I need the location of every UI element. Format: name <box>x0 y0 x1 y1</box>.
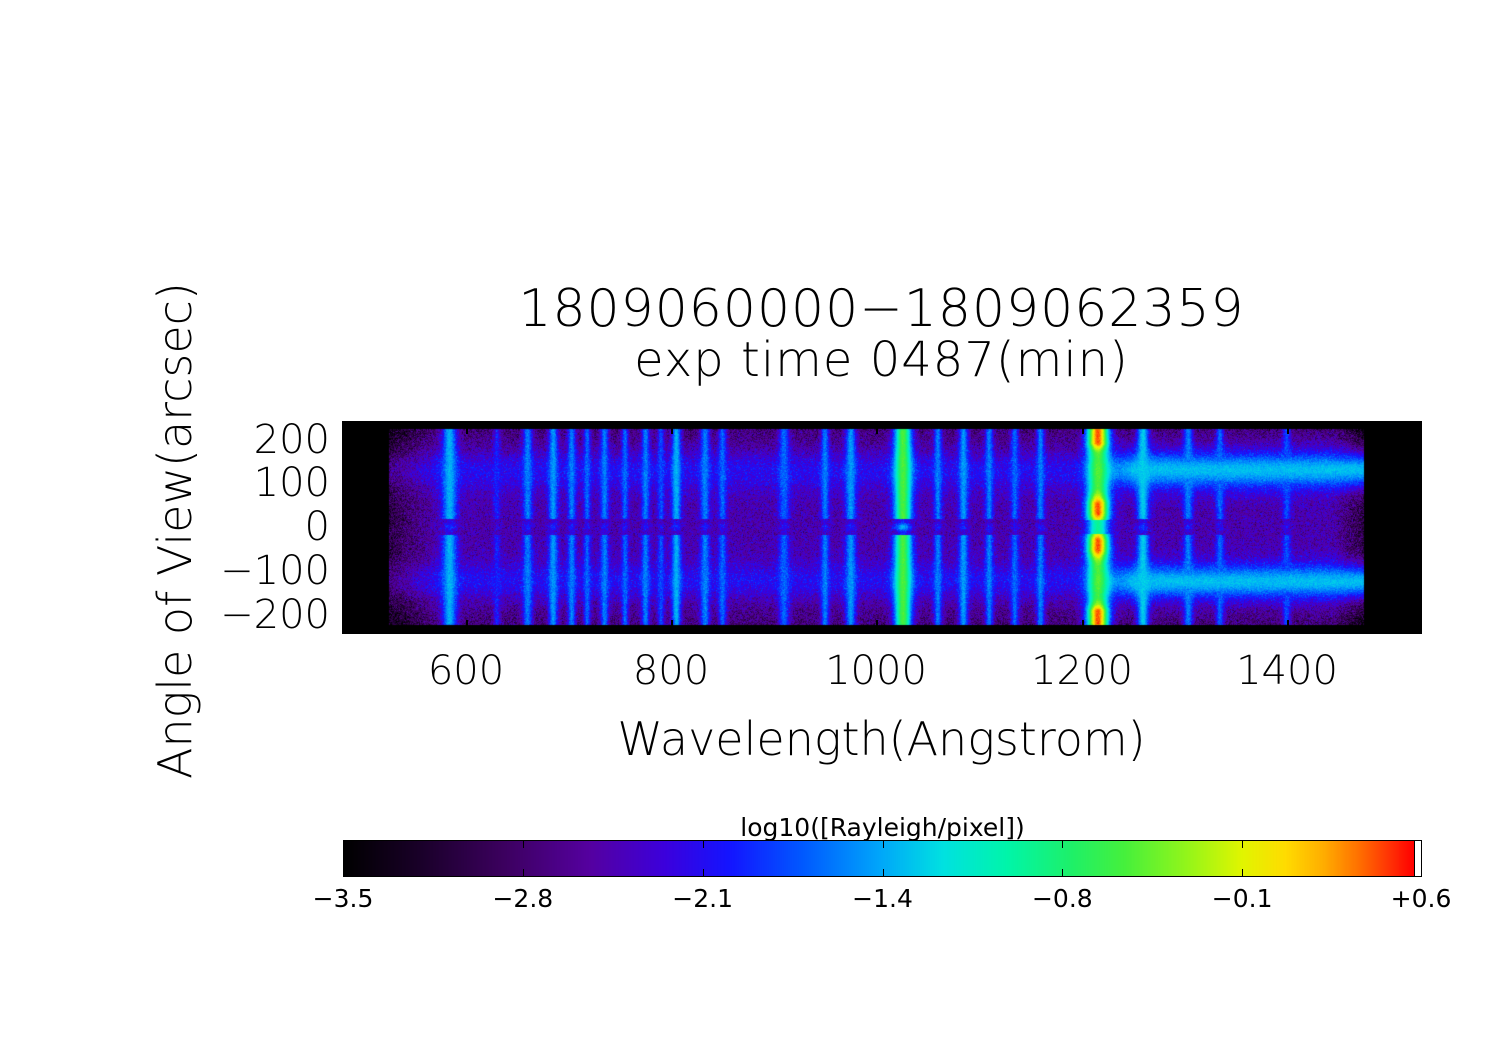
axis-tick <box>343 588 349 589</box>
axis-tick <box>1389 422 1390 428</box>
axis-tick <box>1414 510 1420 511</box>
axis-tick <box>1020 626 1021 632</box>
axis-tick <box>1348 626 1349 632</box>
axis-tick <box>343 422 349 423</box>
colorbar-tick <box>523 869 524 877</box>
axis-tick <box>548 626 549 632</box>
axis-tick <box>343 466 349 467</box>
x-tick-label: 1400 <box>1236 648 1338 694</box>
axis-tick <box>917 422 918 428</box>
axis-tick <box>897 422 898 428</box>
axis-tick <box>630 422 631 428</box>
axis-tick <box>384 626 385 632</box>
colorbar-gradient <box>343 840 1414 877</box>
x-tick-label: 1000 <box>825 648 927 694</box>
axis-tick <box>1164 422 1165 428</box>
axis-right <box>1420 421 1422 634</box>
axis-tick <box>1143 626 1144 632</box>
axis-tick <box>1020 422 1021 428</box>
axis-tick <box>1061 422 1062 428</box>
colorbar-tick <box>1062 869 1063 877</box>
axis-tick <box>1040 626 1041 632</box>
axis-tick <box>1408 571 1420 573</box>
axis-tick <box>610 626 611 632</box>
axis-tick <box>856 626 857 632</box>
axis-tick <box>712 422 713 428</box>
axis-tick <box>753 422 754 428</box>
axis-tick <box>589 626 590 632</box>
axis-tick <box>1082 422 1084 434</box>
axis-tick <box>1408 527 1420 529</box>
axis-tick <box>507 626 508 632</box>
axis-tick <box>487 422 488 428</box>
axis-tick <box>1307 422 1308 428</box>
colorbar-tick-label: −2.1 <box>672 884 733 913</box>
axis-tick <box>958 626 959 632</box>
axis-tick <box>384 422 385 428</box>
axis-tick <box>1184 626 1185 632</box>
axis-tick <box>1408 440 1420 442</box>
title-observation-id: 1809060000−1809062359 <box>343 283 1420 336</box>
axis-tick <box>405 626 406 632</box>
axis-tick <box>876 422 878 434</box>
axis-tick <box>1102 422 1103 428</box>
axis-tick <box>1414 448 1420 449</box>
axis-tick <box>835 626 836 632</box>
colorbar-title: log10([Rayleigh/pixel]) <box>343 813 1422 842</box>
axis-tick <box>1225 626 1226 632</box>
colorbar-tick-label: +0.6 <box>1391 884 1452 913</box>
axis-tick <box>1408 483 1420 485</box>
axis-tick <box>733 422 734 428</box>
axis-tick <box>1266 422 1267 428</box>
axis-tick <box>343 571 355 573</box>
axis-tick <box>1205 626 1206 632</box>
axis-tick <box>405 422 406 428</box>
axis-tick <box>651 422 652 428</box>
axis-tick <box>343 623 349 624</box>
colorbar-tick-label: −1.4 <box>852 884 913 913</box>
axis-tick <box>1040 422 1041 428</box>
axis-tick <box>1246 626 1247 632</box>
axis-tick <box>1414 475 1420 476</box>
axis-tick <box>569 422 570 428</box>
axis-tick <box>343 448 349 449</box>
axis-tick <box>1414 632 1420 633</box>
axis-tick <box>794 422 795 428</box>
axis-tick <box>794 626 795 632</box>
axis-tick <box>343 562 349 563</box>
axis-tick <box>835 422 836 428</box>
axis-tick <box>753 626 754 632</box>
axis-tick <box>1287 620 1289 632</box>
axis-tick <box>1414 518 1420 519</box>
axis-tick <box>1414 553 1420 554</box>
axis-tick <box>528 626 529 632</box>
colorbar-tick <box>883 869 884 877</box>
colorbar-tick <box>343 869 344 877</box>
x-tick-label: 800 <box>633 648 709 694</box>
axis-tick <box>343 615 355 617</box>
axis-tick <box>343 597 349 598</box>
axis-tick <box>1414 562 1420 563</box>
axis-tick <box>692 422 693 428</box>
axis-tick <box>979 626 980 632</box>
axis-tick <box>692 626 693 632</box>
axis-tick <box>856 422 857 428</box>
axis-tick <box>774 422 775 428</box>
axis-tick <box>1414 466 1420 467</box>
axis-tick <box>343 536 349 537</box>
axis-tick <box>1348 422 1349 428</box>
axis-tick <box>466 620 468 632</box>
colorbar-tick-label: −3.5 <box>313 884 374 913</box>
spectrogram-plot-area <box>343 422 1420 632</box>
axis-tick <box>979 422 980 428</box>
axis-tick <box>999 626 1000 632</box>
axis-tick <box>1328 422 1329 428</box>
axis-tick <box>651 626 652 632</box>
axis-tick <box>917 626 918 632</box>
colorbar-tick <box>1062 840 1063 848</box>
axis-tick <box>1328 626 1329 632</box>
axis-tick <box>1389 626 1390 632</box>
axis-tick <box>1414 545 1420 546</box>
axis-tick <box>1414 501 1420 502</box>
axis-tick <box>1414 536 1420 537</box>
axis-tick <box>671 422 673 434</box>
axis-tick <box>548 422 549 428</box>
axis-tick <box>1082 620 1084 632</box>
axis-tick <box>466 422 468 434</box>
chart-title: 1809060000−1809062359 exp time 0487(min) <box>343 283 1420 385</box>
axis-tick <box>733 626 734 632</box>
axis-tick <box>712 626 713 632</box>
axis-tick <box>343 606 349 607</box>
axis-tick <box>343 580 349 581</box>
axis-tick <box>1123 422 1124 428</box>
axis-tick <box>1369 626 1370 632</box>
axis-tick <box>343 501 349 502</box>
colorbar-tick-label: −0.8 <box>1032 884 1093 913</box>
axis-tick <box>1225 422 1226 428</box>
axis-tick <box>1184 422 1185 428</box>
axis-tick <box>589 422 590 428</box>
axis-tick <box>528 422 529 428</box>
axis-tick <box>446 626 447 632</box>
axis-tick <box>1205 422 1206 428</box>
colorbar-tick-label: −0.1 <box>1212 884 1273 913</box>
axis-tick <box>1414 457 1420 458</box>
axis-tick <box>1246 422 1247 428</box>
axis-tick <box>446 422 447 428</box>
x-tick-label: 600 <box>428 648 504 694</box>
axis-tick <box>1414 422 1420 423</box>
axis-tick <box>958 422 959 428</box>
axis-tick <box>1414 431 1420 432</box>
axis-tick <box>425 626 426 632</box>
axis-tick <box>671 620 673 632</box>
title-exposure-time: exp time 0487(min) <box>343 336 1420 385</box>
colorbar-tick <box>1421 840 1422 848</box>
axis-tick <box>1414 606 1420 607</box>
colorbar-tick <box>703 840 704 848</box>
colorbar-tick <box>1242 869 1243 877</box>
axis-tick <box>897 626 898 632</box>
colorbar-tick <box>883 840 884 848</box>
axis-tick <box>507 422 508 428</box>
colorbar-tick <box>1242 840 1243 848</box>
axis-tick <box>1102 626 1103 632</box>
axis-bottom <box>343 632 1422 634</box>
axis-tick <box>343 545 349 546</box>
axis-tick <box>1369 422 1370 428</box>
y-axis-title: Angle of View(arcsec) <box>148 282 202 779</box>
axis-tick <box>1408 615 1420 617</box>
axis-tick <box>1061 626 1062 632</box>
axis-tick <box>1287 422 1289 434</box>
axis-tick <box>630 626 631 632</box>
axis-tick <box>1414 597 1420 598</box>
axis-tick <box>343 483 355 485</box>
x-tick-label: 1200 <box>1031 648 1133 694</box>
axis-tick <box>1414 623 1420 624</box>
axis-tick <box>774 626 775 632</box>
axis-tick <box>343 553 349 554</box>
axis-tick <box>343 632 349 633</box>
axis-tick <box>343 510 349 511</box>
axis-tick <box>1410 422 1411 428</box>
axis-tick <box>364 626 365 632</box>
colorbar-tick <box>703 869 704 877</box>
axis-tick <box>815 626 816 632</box>
axis-tick <box>343 492 349 493</box>
axis-tick <box>487 626 488 632</box>
colorbar-tick <box>523 840 524 848</box>
colorbar-tick <box>343 840 344 848</box>
axis-top <box>343 421 1422 423</box>
axis-tick <box>343 457 349 458</box>
axis-tick <box>999 422 1000 428</box>
axis-tick <box>1123 626 1124 632</box>
axis-tick <box>938 626 939 632</box>
axis-tick <box>1307 626 1308 632</box>
axis-tick <box>876 620 878 632</box>
axis-tick <box>343 518 349 519</box>
axis-tick <box>343 527 355 529</box>
colorbar-tick-label: −2.8 <box>492 884 553 913</box>
axis-tick <box>1410 626 1411 632</box>
axis-tick <box>938 422 939 428</box>
axis-tick <box>1414 580 1420 581</box>
axis-tick <box>425 422 426 428</box>
axis-tick <box>343 431 349 432</box>
axis-tick <box>364 422 365 428</box>
axis-tick <box>1266 626 1267 632</box>
axis-tick <box>343 475 349 476</box>
axis-tick <box>343 440 355 442</box>
axis-tick <box>1143 422 1144 428</box>
x-axis-title: Wavelength(Angstrom) <box>343 712 1420 766</box>
axis-tick <box>1164 626 1165 632</box>
axis-tick <box>610 422 611 428</box>
colorbar-tick <box>1421 869 1422 877</box>
axis-tick <box>569 626 570 632</box>
axis-tick <box>1414 492 1420 493</box>
axis-tick <box>815 422 816 428</box>
axis-tick <box>1414 588 1420 589</box>
spectrogram-heatmap <box>343 422 1420 632</box>
